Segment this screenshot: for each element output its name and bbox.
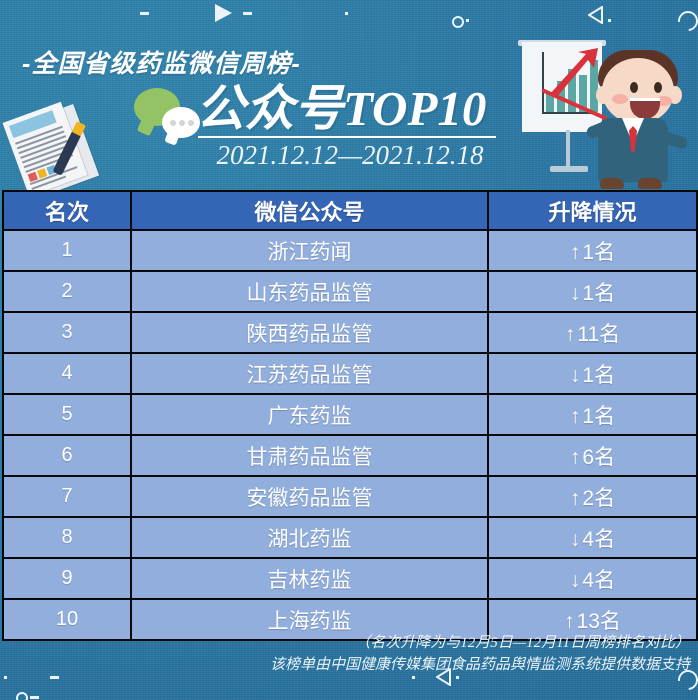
presenter-shoe-left — [600, 178, 624, 189]
contract-document-illustration — [6, 104, 102, 188]
cell-change: ↑1名 — [488, 230, 697, 271]
circle-marker-icon — [16, 692, 28, 700]
cell-account: 广东药监 — [131, 394, 488, 435]
chat-bubble-icon — [134, 88, 204, 143]
cell-account: 浙江药闻 — [131, 230, 488, 271]
cell-rank: 6 — [3, 435, 131, 476]
cell-account: 山东药品监管 — [131, 271, 488, 312]
dashed-line-segment — [140, 12, 210, 15]
dotted-line-segment — [4, 676, 44, 679]
arrow-up-icon: ↑ — [570, 405, 583, 428]
change-value: 13名 — [577, 610, 621, 633]
growth-arrow-icon — [548, 48, 600, 98]
board-stand — [566, 130, 570, 168]
title-underline — [198, 136, 496, 138]
table-row: 6甘肃药品监管↑6名 — [3, 435, 697, 476]
ranking-table: 名次 微信公众号 升降情况 1浙江药闻↑1名2山东药品监管↓1名3陕西药品监管↑… — [2, 190, 698, 641]
cell-account: 甘肃药品监管 — [131, 435, 488, 476]
cell-change: ↑6名 — [488, 435, 697, 476]
left-triangle-icon — [436, 668, 452, 686]
cell-change: ↓1名 — [488, 353, 697, 394]
table-row: 5广东药监↑1名 — [3, 394, 697, 435]
column-header-account: 微信公众号 — [131, 191, 488, 230]
arrow-up-icon: ↑ — [570, 487, 583, 510]
arrow-down-icon: ↓ — [570, 569, 583, 592]
cell-change: ↑2名 — [488, 476, 697, 517]
chart-y-axis — [542, 52, 544, 114]
table-row: 8湖北药监↓4名 — [3, 517, 697, 558]
presenter-shoe-right — [638, 178, 662, 189]
dotted-line-segment — [412, 676, 434, 679]
arrow-up-icon: ↑ — [564, 610, 577, 633]
ranking-table-container: 名次 微信公众号 升降情况 1浙江药闻↑1名2山东药品监管↓1名3陕西药品监管↑… — [2, 190, 696, 641]
change-value: 2名 — [582, 487, 615, 510]
dashed-line-segment — [30, 696, 690, 699]
dotted-line-segment — [345, 12, 455, 15]
page-title: 公众号TOP10 — [196, 84, 486, 134]
table-row: 9吉林药监↓4名 — [3, 558, 697, 599]
cell-rank: 2 — [3, 271, 131, 312]
footer-note: （名次升降为与12月5日—12月11日周榜排名对比） — [0, 632, 690, 654]
cell-account: 湖北药监 — [131, 517, 488, 558]
arrow-up-icon: ↑ — [570, 446, 583, 469]
dotted-line-segment — [466, 19, 586, 22]
cell-account: 吉林药监 — [131, 558, 488, 599]
cell-change: ↑11名 — [488, 312, 697, 353]
cell-account: 江苏药品监管 — [131, 353, 488, 394]
cell-rank: 3 — [3, 312, 131, 353]
cell-rank: 9 — [3, 558, 131, 599]
table-row: 1浙江药闻↑1名 — [3, 230, 697, 271]
table-body: 1浙江药闻↑1名2山东药品监管↓1名3陕西药品监管↑11名4江苏药品监管↓1名5… — [3, 230, 697, 640]
dotted-line-segment — [608, 19, 678, 22]
cell-account: 安徽药品监管 — [131, 476, 488, 517]
cell-rank: 8 — [3, 517, 131, 558]
table-row: 4江苏药品监管↓1名 — [3, 353, 697, 394]
change-value: 1名 — [582, 241, 615, 264]
presenter-illustration — [490, 30, 698, 190]
cell-rank: 7 — [3, 476, 131, 517]
play-triangle-icon — [215, 4, 232, 22]
cell-change: ↓1名 — [488, 271, 697, 312]
cell-rank: 1 — [3, 230, 131, 271]
change-value: 4名 — [582, 528, 615, 551]
column-header-rank: 名次 — [3, 191, 131, 230]
date-range: 2021.12.12—2021.12.18 — [200, 140, 500, 171]
footer-notes: （名次升降为与12月5日—12月11日周榜排名对比） 该榜单由中国健康传媒集团食… — [0, 632, 690, 676]
arrow-down-icon: ↓ — [570, 282, 583, 305]
change-value: 11名 — [577, 323, 620, 346]
cell-rank: 4 — [3, 353, 131, 394]
cell-change: ↓4名 — [488, 517, 697, 558]
table-header-row: 名次 微信公众号 升降情况 — [3, 191, 697, 230]
change-value: 6名 — [582, 446, 615, 469]
kicker-text: -全国省级药监微信周榜- — [22, 44, 301, 80]
change-value: 1名 — [582, 364, 615, 387]
cell-change: ↑1名 — [488, 394, 697, 435]
document-header-band — [9, 110, 57, 138]
column-header-change: 升降情况 — [488, 191, 697, 230]
circle-marker-icon — [452, 16, 464, 28]
arrow-down-icon: ↓ — [570, 364, 583, 387]
change-value: 1名 — [582, 405, 615, 428]
presenter-eye-left — [630, 82, 638, 93]
change-value: 1名 — [582, 282, 615, 305]
chat-bubble-dots-icon — [170, 120, 194, 126]
table-row: 3陕西药品监管↑11名 — [3, 312, 697, 353]
presenter-cheek-left — [612, 94, 628, 104]
cell-change: ↓4名 — [488, 558, 697, 599]
cell-account: 陕西药品监管 — [131, 312, 488, 353]
left-triangle-icon — [588, 6, 604, 24]
arrow-up-icon: ↑ — [570, 241, 583, 264]
footer-source: 该榜单由中国健康传媒集团食品药品舆情监测系统提供数据支持 — [0, 654, 690, 676]
arrow-up-icon: ↑ — [565, 323, 578, 346]
infographic-poster: -全国省级药监微信周榜- 公众号TOP10 2021.12.12—2021.12… — [0, 0, 698, 700]
board-foot — [550, 166, 588, 172]
cell-rank: 5 — [3, 394, 131, 435]
page-title-cn: 公众号 — [196, 82, 343, 136]
table-row: 7安徽药品监管↑2名 — [3, 476, 697, 517]
dotted-line-segment — [456, 676, 680, 679]
table-row: 2山东药品监管↓1名 — [3, 271, 697, 312]
page-title-en: TOP10 — [343, 81, 486, 136]
presenter-eye-right — [654, 82, 662, 93]
change-value: 4名 — [582, 569, 615, 592]
dashed-line-segment — [243, 12, 338, 15]
arrow-down-icon: ↓ — [570, 528, 583, 551]
dashed-line-segment — [50, 676, 410, 679]
